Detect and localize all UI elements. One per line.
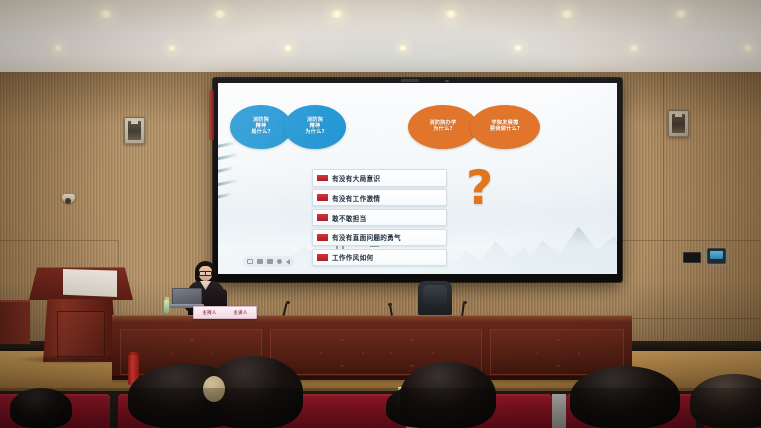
slide-bullet-row: 有没有工作激情 — [312, 189, 447, 207]
slide-ellipse-line: 为什么? — [430, 127, 457, 133]
slide-bullet-text: 有没有大局意识 — [332, 173, 380, 183]
question-mark-graphic: ? — [466, 165, 493, 212]
desk-microphone-head — [463, 301, 467, 304]
slide-icon[interactable] — [257, 259, 263, 264]
table-diamond-motif — [390, 339, 434, 367]
slide-ellipse-3: 消防院办学为什么? — [408, 105, 478, 149]
audience-front-row — [0, 391, 761, 428]
side-cabinet — [0, 300, 30, 344]
slide-bullet-text: 工作作风如何 — [332, 252, 373, 262]
ceiling-downlight — [743, 45, 753, 51]
audience-head — [570, 366, 680, 428]
hair-bun — [203, 376, 225, 402]
nameplate: 主持人 主讲人 — [193, 306, 257, 319]
slide-ellipse-line: 是什么? — [251, 130, 270, 136]
av-touch-panel[interactable] — [707, 248, 726, 264]
slide-ellipse-line: 为什么? — [305, 130, 324, 136]
slide-ellipse-2: 消防院精神为什么? — [284, 105, 346, 149]
audience-head — [10, 388, 72, 428]
screenshot-root: 消防院精神是什么?消防院精神为什么?消防院办学为什么?学院发展需要我做什么? 有… — [0, 0, 761, 428]
ceiling-downlight — [398, 45, 408, 51]
display-brand-logo — [401, 79, 419, 82]
ceiling-downlight — [283, 45, 293, 51]
slide-bullet-row: 敢不敢担当 — [312, 209, 447, 227]
slide-bullet-row: 工作作风如何 — [312, 249, 447, 267]
laptop-lid — [172, 288, 202, 305]
next-icon[interactable] — [286, 259, 290, 265]
fullscreen-icon[interactable] — [247, 259, 253, 264]
slide-left-brush-strokes — [218, 139, 240, 209]
head-table-top — [112, 315, 632, 322]
bullet-marker-icon — [317, 234, 328, 241]
led-display-bezel: 消防院精神是什么?消防院精神为什么?消防院办学为什么?学院发展需要我做什么? 有… — [213, 78, 622, 282]
office-chair — [418, 281, 452, 316]
nameplate-left-text: 主持人 — [202, 310, 216, 316]
presentation-toolbar[interactable] — [243, 256, 294, 267]
water-bottle — [164, 300, 169, 313]
slide-bullet-text: 有没有工作激情 — [332, 193, 380, 203]
bullet-marker-icon — [317, 254, 328, 261]
nameplate-right-text: 主讲人 — [233, 310, 247, 316]
ceiling-downlight — [167, 45, 177, 51]
podium-front-face — [63, 269, 117, 297]
audience-head — [690, 374, 761, 428]
slide-bullet-text: 有没有直面问题的勇气 — [332, 232, 401, 242]
slide-ellipse-line: 要我做什么? — [490, 127, 520, 133]
bullet-marker-icon — [317, 214, 328, 221]
slide-bullet-row: 有没有大局意识 — [312, 169, 447, 187]
slide-bullet-row: 有没有直面问题的勇气 — [312, 229, 447, 247]
glasses-icon — [199, 271, 212, 274]
desk-microphone-head — [286, 301, 290, 304]
screen-left-accent — [209, 90, 214, 140]
audience-head — [400, 362, 496, 428]
bullet-marker-icon — [317, 194, 328, 201]
table-diamond-motif — [170, 339, 214, 367]
slide-ellipse-1: 消防院精神是什么? — [230, 105, 292, 149]
ceiling-downlight — [53, 45, 63, 51]
presentation-slide[interactable]: 消防院精神是什么?消防院精神为什么?消防院办学为什么?学院发展需要我做什么? 有… — [218, 83, 617, 274]
slide-bullet-list: 有没有大局意识有没有工作激情敢不敢担当有没有直面问题的勇气工作作风如何 — [312, 169, 447, 268]
slide-bullet-text: 敢不敢担当 — [332, 213, 366, 223]
display-indicator — [445, 80, 449, 82]
slide-ellipse-4: 学院发展需要我做什么? — [470, 105, 540, 149]
table-diamond-motif — [320, 339, 364, 367]
ceiling-downlight — [513, 45, 523, 51]
bullet-marker-icon — [317, 175, 328, 182]
desk-microphone-head — [388, 303, 392, 306]
comment-icon[interactable] — [267, 259, 273, 264]
table-diamond-motif — [536, 339, 580, 367]
av-control-panel[interactable] — [683, 252, 701, 263]
podium-panel — [57, 311, 105, 357]
ceiling-downlight — [629, 45, 639, 51]
aisle-gap — [552, 394, 566, 428]
more-icon[interactable] — [277, 259, 282, 264]
